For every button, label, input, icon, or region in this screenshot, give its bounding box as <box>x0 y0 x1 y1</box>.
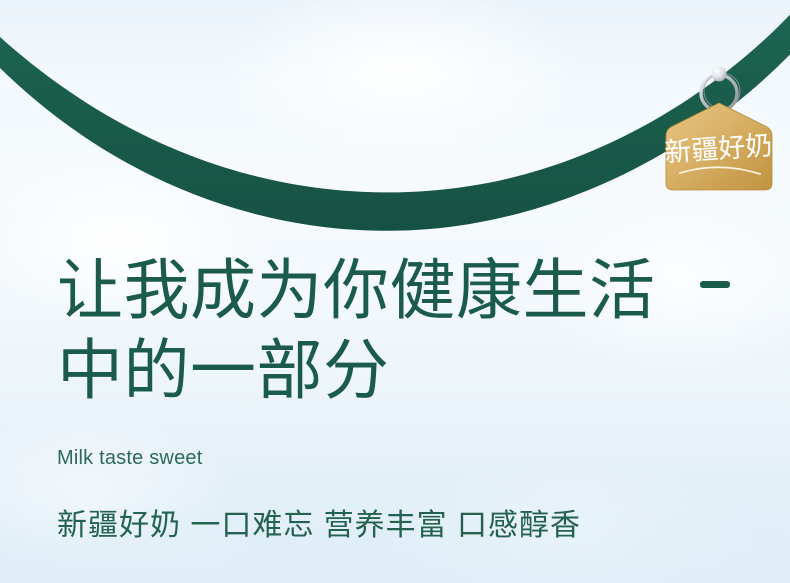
page-title: 让我成为你健康生活 中的一部分 <box>57 252 757 412</box>
xinjiang-good-milk-tag: 新疆好奶 <box>650 55 790 205</box>
accent-dash <box>700 281 730 288</box>
subtitle: Milk taste sweet <box>57 447 202 470</box>
promo-banner: 新疆好奶 让我成为你健康生活 中的一部分 Milk taste sweet 新疆… <box>0 0 790 583</box>
tag-ring-bead <box>712 67 727 82</box>
headline-block: 让我成为你健康生活 中的一部分 <box>57 252 757 412</box>
tagline: 新疆好奶 一口难忘 营养丰富 口感醇香 <box>57 500 581 544</box>
